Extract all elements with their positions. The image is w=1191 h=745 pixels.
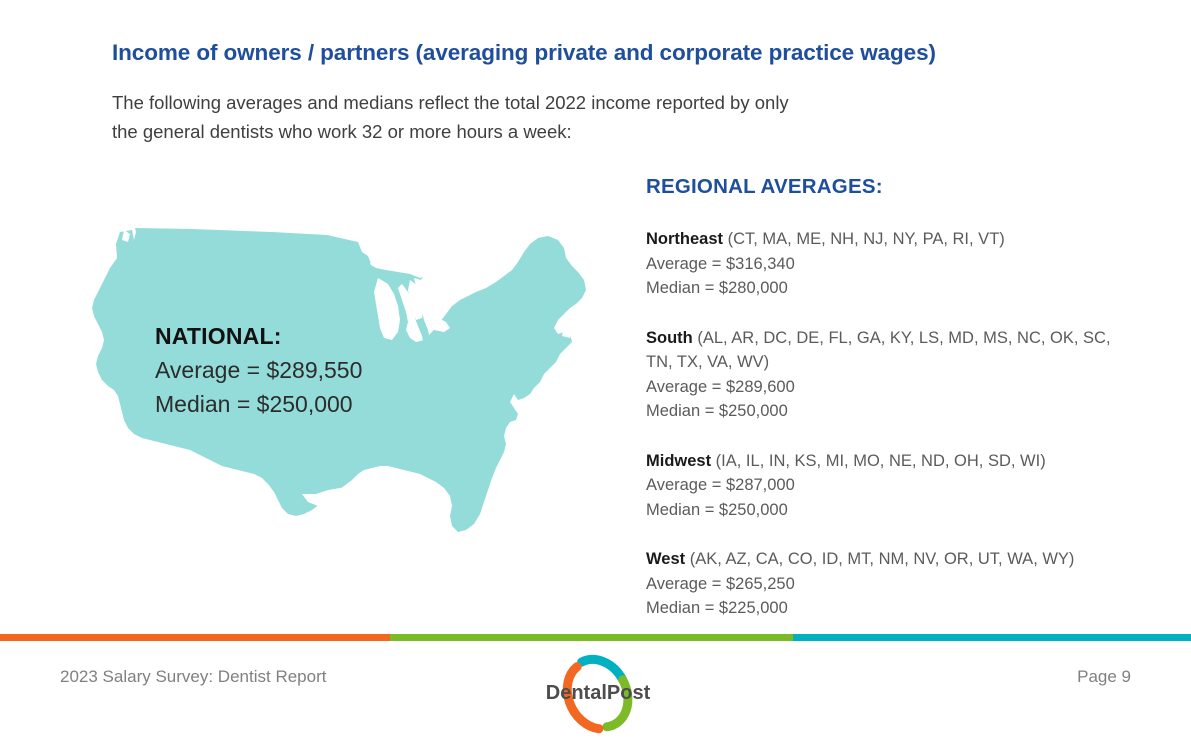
- regional-averages-heading: REGIONAL AVERAGES:: [646, 175, 1116, 199]
- region-name: South: [646, 329, 693, 347]
- slide-canvas: Income of owners / partners (averaging p…: [0, 0, 1191, 745]
- region-median: Median = $250,000: [646, 498, 1116, 523]
- national-stats: NATIONAL: Average = $289,550 Median = $2…: [155, 319, 445, 421]
- rule-segment-green: [390, 634, 793, 641]
- footer-color-rule: [0, 634, 1191, 641]
- intro-line-1: The following averages and medians refle…: [112, 88, 1012, 117]
- regional-averages-section: REGIONAL AVERAGES: Northeast (CT, MA, ME…: [646, 175, 1116, 621]
- logo-text-post: Post: [607, 682, 651, 704]
- national-average: Average = $289,550: [155, 353, 445, 387]
- region-states: (IA, IL, IN, KS, MI, MO, NE, ND, OH, SD,…: [711, 452, 1046, 470]
- region-states: (CT, MA, ME, NH, NJ, NY, PA, RI, VT): [723, 230, 1005, 248]
- region-average: Average = $316,340: [646, 252, 1116, 277]
- region-header: Midwest (IA, IL, IN, KS, MI, MO, NE, ND,…: [646, 449, 1116, 474]
- page-title: Income of owners / partners (averaging p…: [112, 39, 1112, 66]
- intro-paragraph: The following averages and medians refle…: [112, 88, 1012, 146]
- region-average: Average = $289,600: [646, 375, 1116, 400]
- region-average: Average = $265,250: [646, 572, 1116, 597]
- region-median: Median = $280,000: [646, 276, 1116, 301]
- dentalpost-logo: DentalPost: [528, 645, 668, 741]
- region-name: Northeast: [646, 230, 723, 248]
- dentalpost-logo-mark: DentalPost: [528, 645, 668, 741]
- region-south: South (AL, AR, DC, DE, FL, GA, KY, LS, M…: [646, 326, 1116, 424]
- region-midwest: Midwest (IA, IL, IN, KS, MI, MO, NE, ND,…: [646, 449, 1116, 523]
- region-west: West (AK, AZ, CA, CO, ID, MT, NM, NV, OR…: [646, 547, 1116, 621]
- national-median: Median = $250,000: [155, 387, 445, 421]
- national-label: NATIONAL:: [155, 319, 445, 353]
- dentalpost-wordmark: DentalPost: [546, 682, 651, 704]
- intro-line-2: the general dentists who work 32 or more…: [112, 117, 1012, 146]
- region-states: (AK, AZ, CA, CO, ID, MT, NM, NV, OR, UT,…: [685, 550, 1074, 568]
- region-northeast: Northeast (CT, MA, ME, NH, NJ, NY, PA, R…: [646, 227, 1116, 301]
- region-average: Average = $287,000: [646, 473, 1116, 498]
- region-name: West: [646, 550, 685, 568]
- footer-page-number: Page 9: [1077, 667, 1131, 687]
- region-header: South (AL, AR, DC, DE, FL, GA, KY, LS, M…: [646, 326, 1116, 375]
- region-median: Median = $225,000: [646, 596, 1116, 621]
- region-median: Median = $250,000: [646, 399, 1116, 424]
- region-header: Northeast (CT, MA, ME, NH, NJ, NY, PA, R…: [646, 227, 1116, 252]
- rule-segment-teal: [793, 634, 1191, 641]
- region-name: Midwest: [646, 452, 711, 470]
- region-states: (AL, AR, DC, DE, FL, GA, KY, LS, MD, MS,…: [646, 329, 1111, 372]
- footer-report-name: 2023 Salary Survey: Dentist Report: [60, 667, 326, 687]
- logo-text-dental: Dental: [546, 682, 607, 704]
- rule-segment-orange: [0, 634, 390, 641]
- region-header: West (AK, AZ, CA, CO, ID, MT, NM, NV, OR…: [646, 547, 1116, 572]
